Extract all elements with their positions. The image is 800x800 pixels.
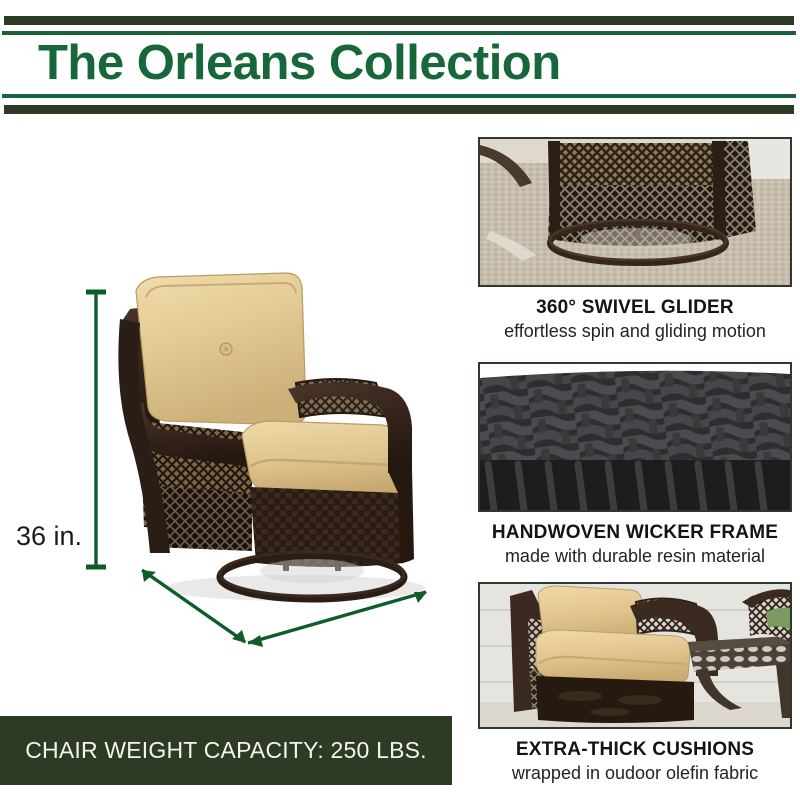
- weight-capacity-text: CHAIR WEIGHT CAPACITY: 250 LBS.: [0, 716, 452, 785]
- feature-caption-wicker-frame: HANDWOVEN WICKER FRAME made with durable…: [478, 521, 792, 568]
- feature-subtitle: wrapped in oudoor olefin fabric: [478, 762, 792, 785]
- dimension-lines: [0, 126, 470, 711]
- feature-block-wicker-frame: HANDWOVEN WICKER FRAME made with durable…: [478, 362, 792, 568]
- page-title: The Orleans Collection: [38, 34, 778, 92]
- feature-title: HANDWOVEN WICKER FRAME: [478, 521, 792, 544]
- header-rule-thin-bottom: [2, 94, 796, 98]
- dimension-label-height: 36 in.: [16, 521, 82, 552]
- feature-photo-wicker-frame: [478, 362, 792, 512]
- feature-caption-swivel-glider: 360° SWIVEL GLIDER effortless spin and g…: [478, 296, 792, 343]
- feature-title: 360° SWIVEL GLIDER: [478, 296, 792, 319]
- header-banner: The Orleans Collection: [0, 0, 800, 122]
- feature-title: EXTRA-THICK CUSHIONS: [478, 738, 792, 761]
- feature-photo-swivel-glider: [478, 137, 792, 287]
- feature-block-cushions: EXTRA-THICK CUSHIONS wrapped in oudoor o…: [478, 582, 792, 785]
- feature-caption-cushions: EXTRA-THICK CUSHIONS wrapped in oudoor o…: [478, 738, 792, 785]
- product-infographic: The Orleans Collection: [0, 0, 800, 800]
- feature-subtitle: effortless spin and gliding motion: [478, 320, 792, 343]
- feature-block-swivel-glider: 360° SWIVEL GLIDER effortless spin and g…: [478, 137, 792, 343]
- feature-subtitle: made with durable resin material: [478, 545, 792, 568]
- weight-capacity-banner: CHAIR WEIGHT CAPACITY: 250 LBS.: [0, 716, 452, 785]
- header-rule-dark-bottom: [4, 105, 794, 114]
- feature-photo-cushions: [478, 582, 792, 729]
- header-rule-dark-top: [4, 16, 794, 25]
- product-dimension-diagram: 36 in. 34 in. 31 in.: [0, 126, 470, 711]
